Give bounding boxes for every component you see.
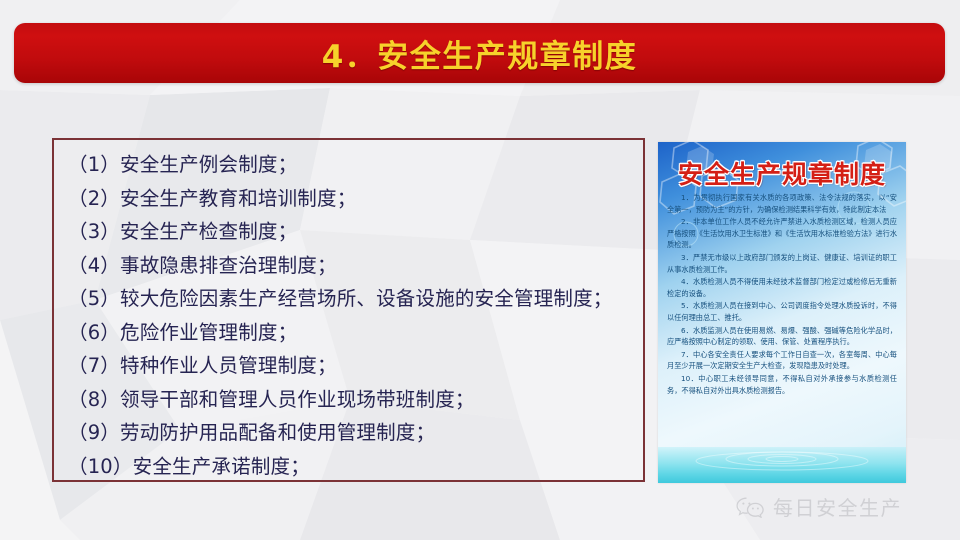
poster-paragraph: 10．中心职工未经领导同意，不得私自对外承接参与水质检测任务，不得私自对外出具水…	[667, 373, 897, 396]
regulations-list-box: （1）安全生产例会制度； （2）安全生产教育和培训制度； （3）安全生产检查制度…	[52, 138, 645, 482]
page-title: 4．安全生产规章制度	[322, 31, 638, 76]
poster-body-text: 1．为贯彻执行国家有关水质的各项政策、法令法规的落实，以“安全第一，预防为主”的…	[667, 192, 897, 397]
slide-root: 4．安全生产规章制度 （1）安全生产例会制度； （2）安全生产教育和培训制度； …	[0, 0, 960, 540]
poster-paragraph: 4．水质检测人员不得使用未经技术监督部门检定过或检修后无重新检定的设备。	[667, 276, 897, 299]
safety-regulations-poster-image: 安全生产规章制度 1．为贯彻执行国家有关水质的各项政策、法令法规的落实，以“安全…	[658, 142, 906, 483]
poster-title: 安全生产规章制度	[658, 155, 906, 191]
poster-water-ripple-band	[658, 447, 906, 483]
poster-paragraph: 7．中心各安全责任人要求每个工作日自查一次，各室每周、中心每月至少开展一次定期安…	[667, 349, 897, 372]
poster-paragraph: 3．严禁无市级以上政府部门颁发的上岗证、健康证、培训证的职工从事水质检测工作。	[667, 252, 897, 275]
poster-paragraph: 2．非本单位工作人员不经允许严禁进入水质检测区域，检测人员应严格按照《生活饮用水…	[667, 216, 897, 251]
poster-paragraph: 5．水质检测人员在接到中心、公司调度指令处理水质投诉时，不得以任何理由总工、推托…	[667, 300, 897, 323]
watermark: 每日安全生产	[735, 492, 902, 521]
poster-paragraph: 1．为贯彻执行国家有关水质的各项政策、法令法规的落实，以“安全第一，预防为主”的…	[667, 192, 897, 215]
slide-title-bar: 4．安全生产规章制度	[14, 23, 945, 83]
wechat-icon	[735, 496, 765, 518]
poster-paragraph: 6．水质监测人员在使用易燃、易爆、强酸、强碱等危险化学品时，应严格按照中心制定的…	[667, 325, 897, 348]
watermark-text: 每日安全生产	[773, 492, 902, 521]
